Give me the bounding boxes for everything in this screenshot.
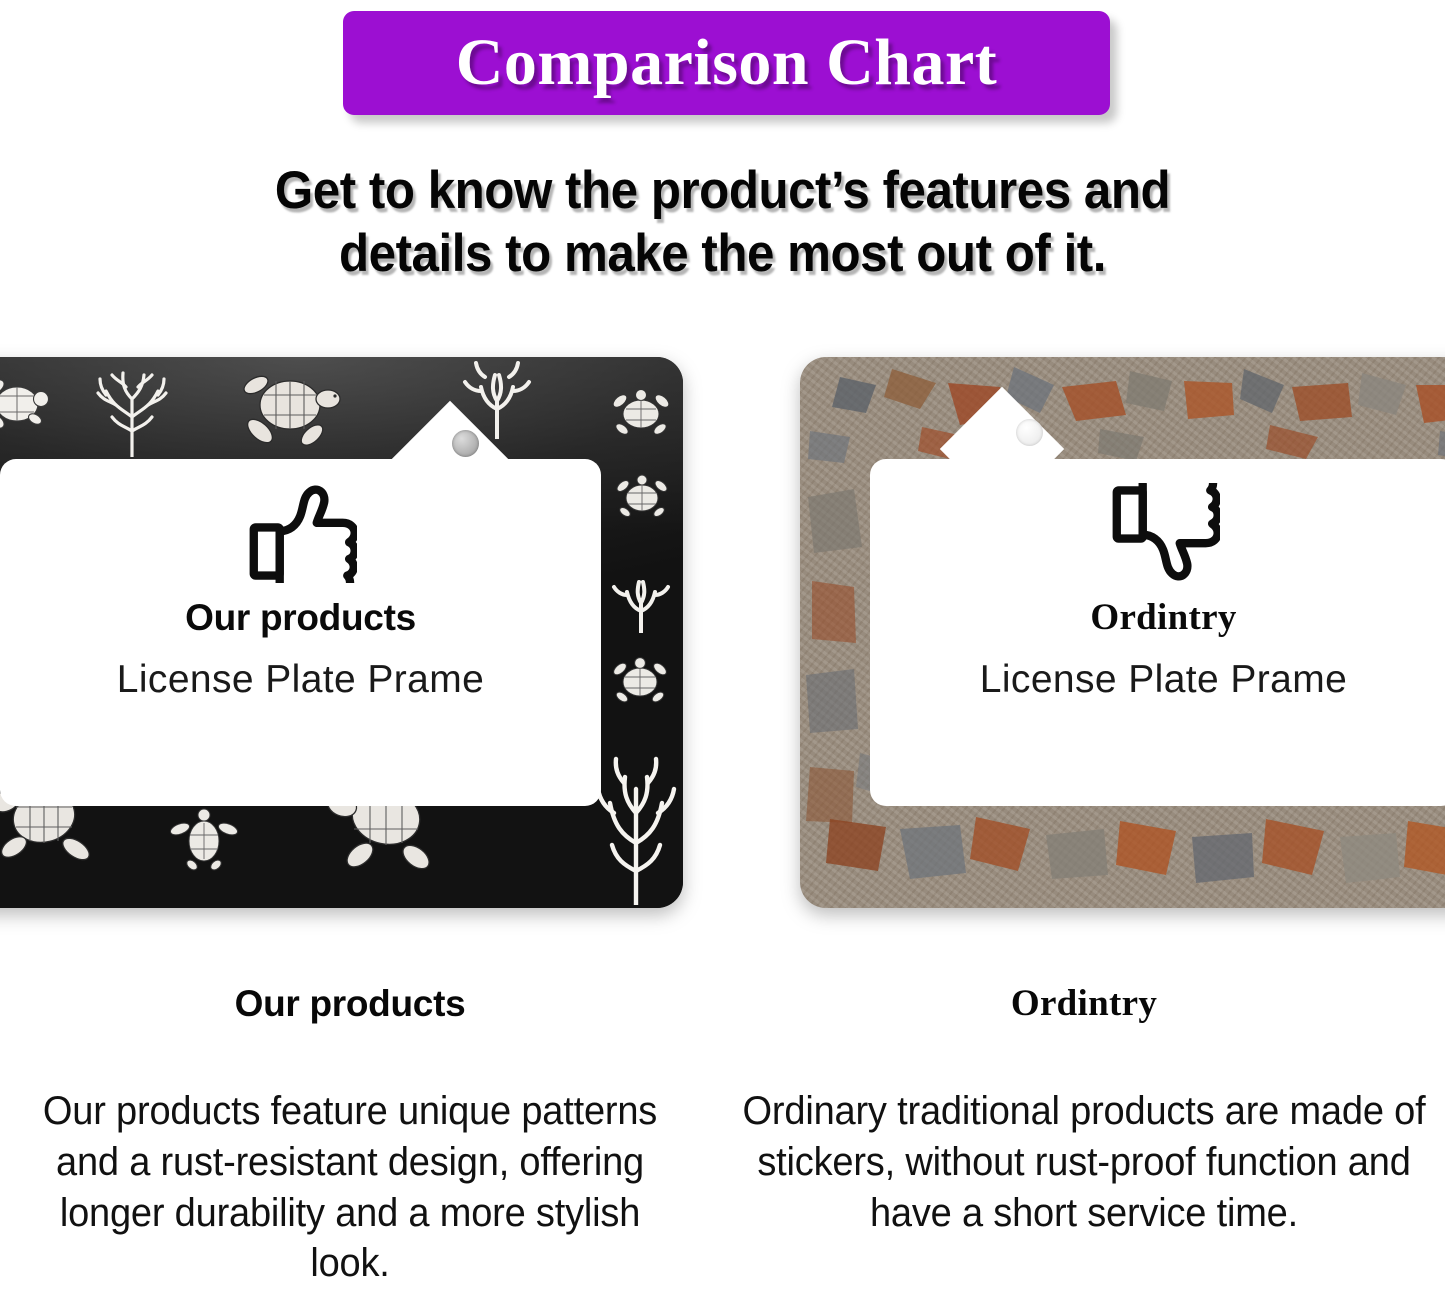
our-product-description-body: Our products feature unique patterns and… <box>18 1086 683 1289</box>
thumbs-up-icon <box>245 483 357 583</box>
our-product-frame: Our products License Plate Prame <box>0 348 683 928</box>
title-banner: Comparison Chart <box>343 11 1110 115</box>
mounting-hole <box>452 430 479 457</box>
ordinary-description-title: Ordintry <box>723 985 1445 1022</box>
license-plate-frame-ours: Our products License Plate Prame <box>0 357 683 908</box>
our-product-description-title: Our products <box>0 985 700 1022</box>
plate-inner-window: Ordintry License Plate Prame <box>870 459 1445 806</box>
our-product-window-content: Our products License Plate Prame <box>0 459 601 806</box>
our-product-name-label: License Plate Prame <box>117 658 484 702</box>
ordinary-brand-label: Ordintry <box>1090 599 1236 636</box>
ordinary-description-column: Ordintry Ordinary traditional products a… <box>723 985 1445 1238</box>
ordinary-product-frame: Ordintry License Plate Prame <box>800 348 1445 928</box>
ordinary-product-name-label: License Plate Prame <box>980 658 1347 702</box>
mounting-hole <box>1016 419 1043 446</box>
ordinary-window-content: Ordintry License Plate Prame <box>870 459 1445 806</box>
our-product-description-column: Our products Our products feature unique… <box>0 985 700 1289</box>
subtitle: Get to know the product’s features and d… <box>51 160 1395 285</box>
thumbs-down-icon <box>1108 483 1220 583</box>
product-frames-row: Our products License Plate Prame <box>0 348 1445 928</box>
plate-inner-window: Our products License Plate Prame <box>0 459 601 806</box>
ordinary-description-body: Ordinary traditional products are made o… <box>741 1086 1427 1238</box>
subtitle-line-1: Get to know the product’s features and <box>51 160 1395 223</box>
comparison-chart-page: Comparison Chart Get to know the product… <box>0 0 1445 1314</box>
our-product-brand-label: Our products <box>185 599 416 636</box>
description-row: Our products Our products feature unique… <box>0 985 1445 1314</box>
subtitle-line-2: details to make the most out of it. <box>51 223 1395 286</box>
license-plate-frame-ordinary: Ordintry License Plate Prame <box>800 357 1445 908</box>
page-title: Comparison Chart <box>456 30 998 96</box>
